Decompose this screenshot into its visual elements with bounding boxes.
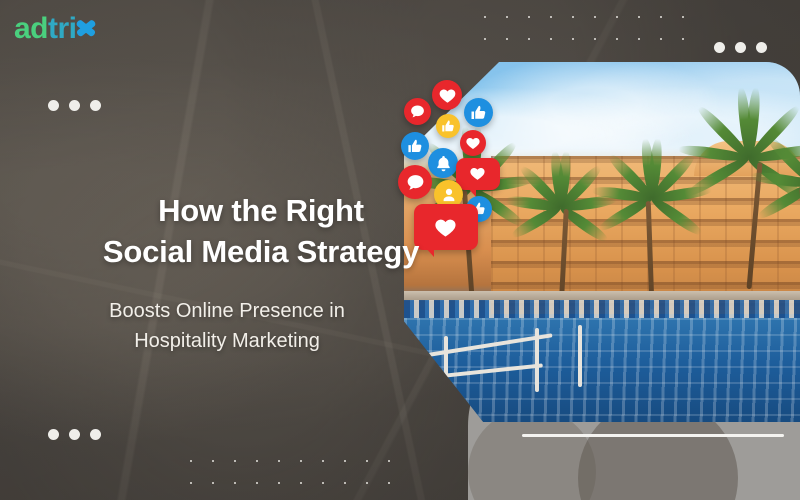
subtitle-line-2: Hospitality Marketing xyxy=(62,326,392,356)
three-dots-top-right xyxy=(714,42,767,53)
heart-bubble-icon-glyph xyxy=(468,164,487,183)
dot-grid-bottom xyxy=(176,446,408,500)
title-line-1: How the Right xyxy=(96,190,426,231)
thumbs-up-icon xyxy=(436,114,460,138)
comment-icon-glyph xyxy=(409,103,426,120)
thumbs-up-icon-glyph xyxy=(407,138,424,155)
divider-line xyxy=(522,434,784,437)
bell-icon-glyph xyxy=(434,154,453,173)
heart-icon xyxy=(432,80,462,110)
logo-text-tri: tri xyxy=(48,14,77,44)
subtitle-line-1: Boosts Online Presence in xyxy=(62,296,392,326)
person-icon-glyph xyxy=(440,186,458,204)
dot-grid-top xyxy=(470,2,702,60)
page-subtitle: Boosts Online Presence in Hospitality Ma… xyxy=(62,296,392,356)
title-line-2: Social Media Strategy xyxy=(96,231,426,272)
thumbs-up-icon-glyph xyxy=(441,119,456,134)
logo-text-ad: ad xyxy=(14,14,48,44)
thumbs-up-icon xyxy=(401,132,429,160)
pool-railing-post xyxy=(578,325,582,387)
heart-bubble-icon-glyph xyxy=(432,214,459,241)
palm-tree xyxy=(752,141,800,305)
banner-root: adtri How the Right Social Media Strateg… xyxy=(0,0,800,500)
three-dots-top-left xyxy=(48,100,101,111)
page-title: How the Right Social Media Strategy xyxy=(96,190,426,272)
thumbs-up-icon xyxy=(464,98,493,127)
bell-icon xyxy=(428,148,458,178)
brand-logo[interactable]: adtri xyxy=(14,14,96,44)
pool-railing-post xyxy=(535,328,539,392)
heart-icon-glyph xyxy=(438,86,457,105)
logo-x-icon xyxy=(77,14,96,44)
pool-loungers xyxy=(404,300,800,318)
heart-icon xyxy=(460,130,486,156)
three-dots-bottom-left xyxy=(48,429,101,440)
comment-icon xyxy=(404,98,431,125)
heart-bubble-icon xyxy=(456,158,500,190)
heart-icon-glyph xyxy=(465,135,481,151)
thumbs-up-icon-glyph xyxy=(470,104,488,122)
